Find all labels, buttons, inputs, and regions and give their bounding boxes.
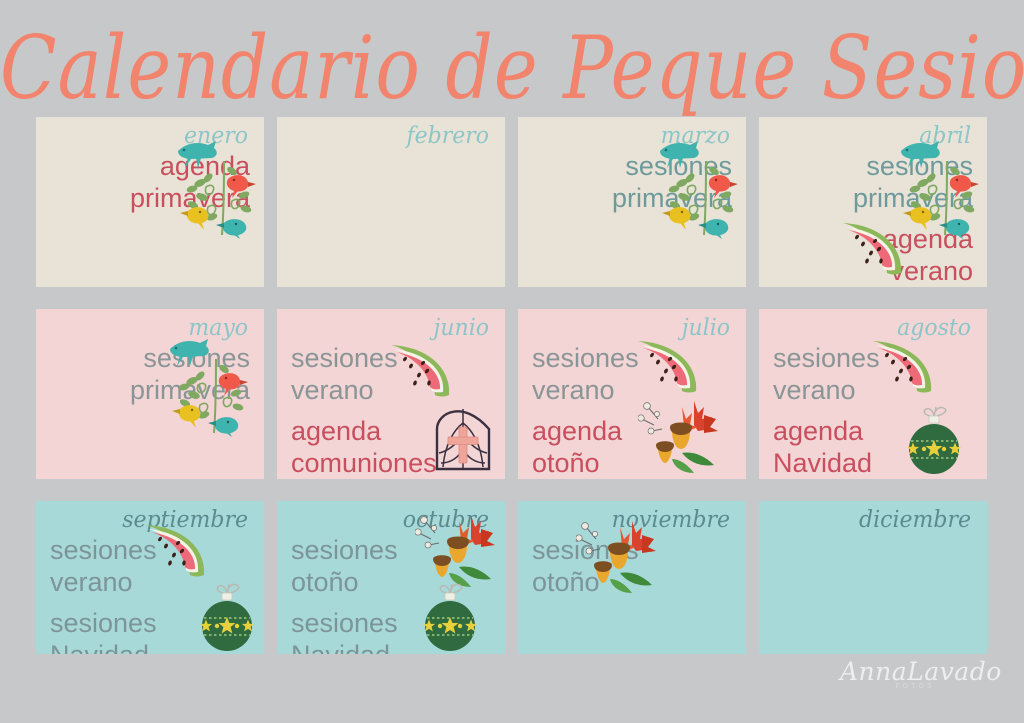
month-entry-line: agenda	[883, 223, 973, 255]
month-label: octubre	[403, 507, 489, 533]
month-entry-line: agenda	[773, 415, 863, 447]
month-entry-line: sesiones	[625, 150, 732, 182]
month-entries: sesionesotoñosesionesNavidad	[291, 534, 491, 654]
month-entry-line: verano	[291, 374, 374, 406]
month-label: febrero	[406, 123, 489, 149]
month-label: agosto	[897, 315, 971, 341]
month-label: abril	[919, 123, 971, 149]
month-entry-line: verano	[890, 255, 973, 287]
month-entry-line: primavera	[853, 182, 973, 214]
month-label: noviembre	[612, 507, 730, 533]
month-entry-line: sesiones	[291, 342, 398, 374]
month-card-marzo[interactable]: marzosesionesprimavera	[518, 117, 746, 287]
month-entry-line: verano	[532, 374, 615, 406]
month-entry-line: sesiones	[773, 342, 880, 374]
month-card-octubre[interactable]: octubresesionesotoñosesionesNavidad	[277, 501, 505, 654]
month-entry-line: agenda	[291, 415, 381, 447]
month-entry-line: sesiones	[50, 607, 157, 639]
month-card-enero[interactable]: eneroagendaprimavera	[36, 117, 264, 287]
month-card-noviembre[interactable]: noviembresesionesotoño	[518, 501, 746, 654]
month-entries: sesionesprimaveraagendaverano	[773, 150, 973, 287]
month-entry-line: sesiones	[866, 150, 973, 182]
month-label: diciembre	[859, 507, 971, 533]
month-entries: sesionesotoño	[532, 534, 732, 598]
month-entries: sesionesprimavera	[50, 342, 250, 406]
calendar-poster: Calendario de Peque Sesiones eneroagenda…	[0, 0, 1024, 723]
month-entry-line: agenda	[160, 150, 250, 182]
month-entry-line: otoño	[291, 566, 359, 598]
month-entry-line: comuniones	[291, 447, 437, 479]
month-label: mayo	[188, 315, 248, 341]
month-card-diciembre[interactable]: diciembre	[759, 501, 987, 654]
month-entry-line: otoño	[532, 447, 600, 479]
month-entries: sesionesprimavera	[532, 150, 732, 214]
month-entries: agendaprimavera	[50, 150, 250, 214]
month-entries: sesionesveranoagendacomuniones	[291, 342, 491, 479]
month-card-septiembre[interactable]: septiembresesionesveranosesionesNavidad	[36, 501, 264, 654]
month-card-junio[interactable]: juniosesionesveranoagendacomuniones	[277, 309, 505, 479]
month-entry-line: sesiones	[532, 342, 639, 374]
month-entry-line: verano	[50, 566, 133, 598]
month-entry-line: sesiones	[143, 342, 250, 374]
month-entries: sesionesveranosesionesNavidad	[50, 534, 250, 654]
month-entries: sesionesveranoagendaNavidad	[773, 342, 973, 479]
month-entry-line: Navidad	[773, 447, 872, 479]
month-label: septiembre	[122, 507, 248, 533]
month-entry-line: sesiones	[532, 534, 639, 566]
month-entry-line: sesiones	[291, 534, 398, 566]
month-entry-line: Navidad	[291, 639, 390, 654]
month-entry-line: otoño	[532, 566, 600, 598]
month-entry-line: sesiones	[50, 534, 157, 566]
month-entry-line: primavera	[130, 374, 250, 406]
month-card-abril[interactable]: abrilsesionesprimaveraagendaverano	[759, 117, 987, 287]
month-card-julio[interactable]: juliosesionesveranoagendaotoño	[518, 309, 746, 479]
month-label: enero	[184, 123, 248, 149]
month-entry-line: verano	[773, 374, 856, 406]
month-entry-line: sesiones	[291, 607, 398, 639]
month-card-agosto[interactable]: agostosesionesveranoagendaNavidad	[759, 309, 987, 479]
month-label: julio	[682, 315, 730, 341]
page-title: Calendario de Peque Sesiones	[0, 18, 1024, 119]
logo-subtitle: FOTOS	[840, 683, 990, 690]
month-entry-line: primavera	[612, 182, 732, 214]
month-entry-line: agenda	[532, 415, 622, 447]
month-card-febrero[interactable]: febrero	[277, 117, 505, 287]
brand-logo: AnnaLavado FOTOS	[840, 657, 990, 709]
month-label: marzo	[661, 123, 730, 149]
month-grid: eneroagendaprimavera	[36, 117, 988, 654]
month-entries: sesionesveranoagendaotoño	[532, 342, 732, 479]
month-card-mayo[interactable]: mayosesionesprimavera	[36, 309, 264, 479]
month-label: junio	[434, 315, 489, 341]
month-entry-line: primavera	[130, 182, 250, 214]
month-entry-line: Navidad	[50, 639, 149, 654]
